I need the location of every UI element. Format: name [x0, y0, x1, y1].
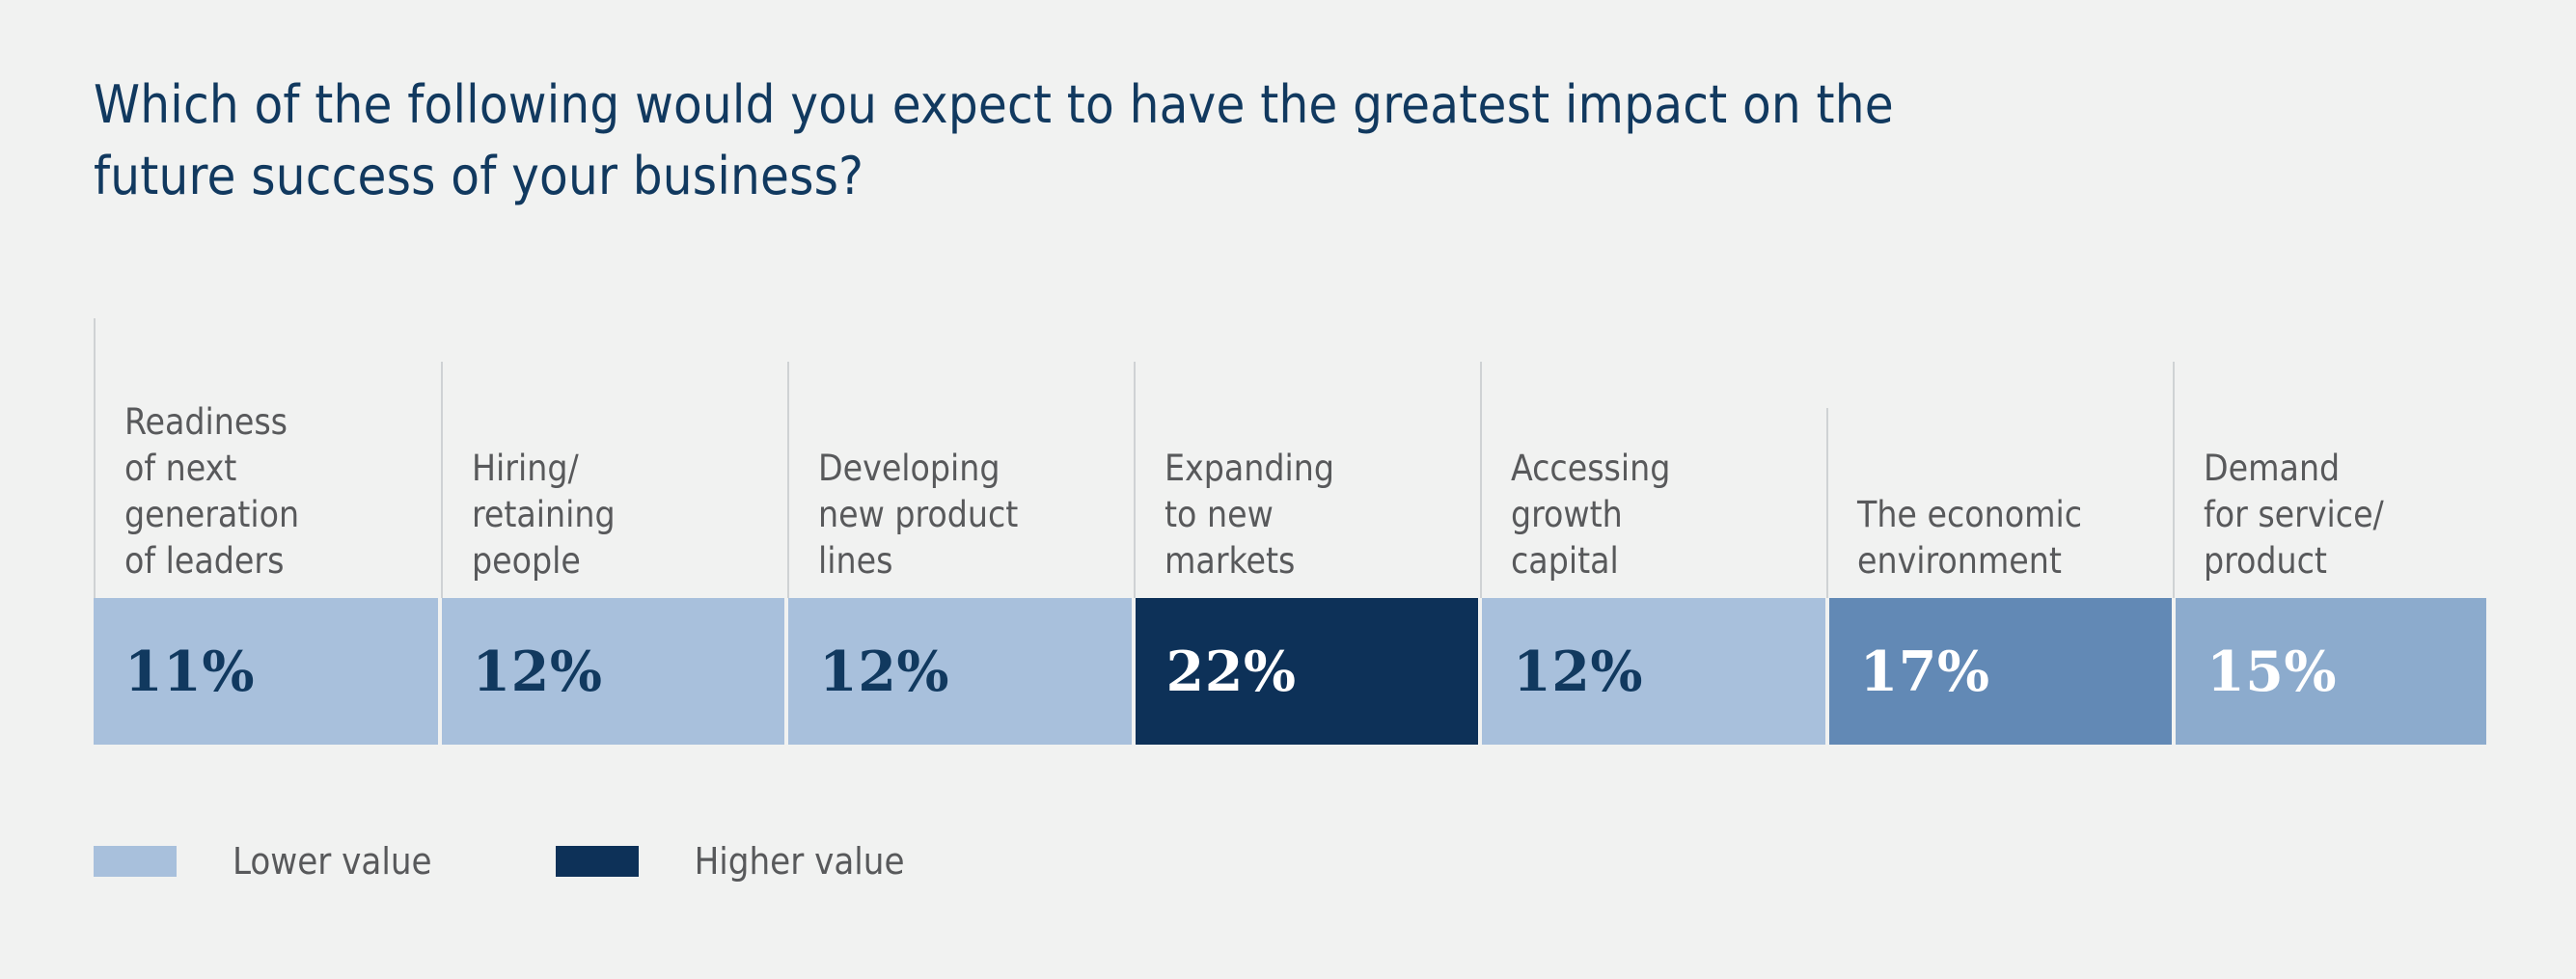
column-header-label-line: new product	[818, 492, 1124, 538]
column-divider	[2173, 362, 2175, 598]
column-header-label: Expandingto newmarkets	[1165, 446, 1470, 585]
matrix-value-cell: 22%	[1136, 598, 1479, 745]
column-header-label-line: generation	[124, 492, 431, 538]
legend-item: Lower value	[94, 843, 432, 880]
column-divider	[1826, 408, 1828, 598]
column-divider	[441, 362, 443, 598]
column-header-label: Developingnew productlines	[818, 446, 1124, 585]
column-header-label-line: Accessing	[1511, 446, 1817, 492]
column-header-label-line: markets	[1165, 538, 1470, 585]
column-header-label-line: people	[472, 538, 778, 585]
chart-legend: Lower valueHigher value	[94, 843, 905, 880]
column-divider	[1134, 362, 1136, 598]
legend-label: Lower value	[233, 843, 432, 880]
page-title-line-2: future success of your business?	[94, 141, 2120, 212]
column-header-label: The economicenvironment	[1857, 492, 2163, 585]
column-header-label-line: Expanding	[1165, 446, 1470, 492]
column-header-label-line: capital	[1511, 538, 1817, 585]
column-divider	[787, 362, 789, 598]
column-header-label: Hiring/retainingpeople	[472, 446, 778, 585]
value-label: 12%	[1513, 644, 1643, 699]
value-label: 15%	[2206, 644, 2337, 699]
column-divider	[1480, 362, 1482, 598]
matrix-column-header: The economicenvironment	[1826, 318, 2173, 598]
matrix-value-cell: 12%	[442, 598, 785, 745]
column-header-label-line: growth	[1511, 492, 1817, 538]
page-title: Which of the following would you expect …	[94, 69, 2120, 212]
column-header-label-line: environment	[1857, 538, 2163, 585]
value-label: 12%	[473, 644, 603, 699]
matrix-column-header: Accessinggrowthcapital	[1480, 318, 1826, 598]
legend-item: Higher value	[556, 843, 905, 880]
legend-swatch	[556, 846, 639, 877]
value-label: 11%	[124, 644, 255, 699]
legend-label: Higher value	[695, 843, 905, 880]
value-label: 12%	[819, 644, 949, 699]
column-header-label: Readinessof nextgenerationof leaders	[124, 399, 431, 585]
matrix-column-header: Hiring/retainingpeople	[441, 318, 787, 598]
column-header-label-line: of next	[124, 446, 431, 492]
column-header-label: Accessinggrowthcapital	[1511, 446, 1817, 585]
matrix-value-cell: 12%	[788, 598, 1132, 745]
column-header-label-line: The economic	[1857, 492, 2163, 538]
column-header-label-line: product	[2204, 538, 2477, 585]
column-header-label-line: for service/	[2204, 492, 2477, 538]
matrix-header-row: Readinessof nextgenerationof leadersHiri…	[94, 318, 2486, 598]
legend-swatch	[94, 846, 177, 877]
matrix-column-header: Developingnew productlines	[787, 318, 1134, 598]
value-label: 17%	[1860, 644, 1990, 699]
column-header-label-line: to new	[1165, 492, 1470, 538]
matrix-column-header: Readinessof nextgenerationof leaders	[94, 318, 441, 598]
column-divider	[94, 318, 96, 598]
column-header-label-line: lines	[818, 538, 1124, 585]
column-header-label: Demandfor service/product	[2204, 446, 2477, 585]
chart-page: Which of the following would you expect …	[0, 0, 2576, 979]
matrix-value-cell: 11%	[94, 598, 438, 745]
matrix-value-cell: 12%	[1482, 598, 1825, 745]
page-title-line-1: Which of the following would you expect …	[94, 69, 2120, 141]
column-header-label-line: Demand	[2204, 446, 2477, 492]
column-header-label-line: Readiness	[124, 399, 431, 446]
value-label: 22%	[1166, 644, 1297, 699]
survey-matrix: Readinessof nextgenerationof leadersHiri…	[94, 318, 2486, 772]
matrix-value-cell: 15%	[2176, 598, 2486, 745]
matrix-value-cell: 17%	[1829, 598, 2173, 745]
column-header-label-line: Hiring/	[472, 446, 778, 492]
column-header-label-line: Developing	[818, 446, 1124, 492]
matrix-column-header: Demandfor service/product	[2173, 318, 2486, 598]
matrix-value-row: 11%12%12%22%12%17%15%	[94, 598, 2486, 745]
matrix-column-header: Expandingto newmarkets	[1134, 318, 1480, 598]
column-header-label-line: of leaders	[124, 538, 431, 585]
column-header-label-line: retaining	[472, 492, 778, 538]
